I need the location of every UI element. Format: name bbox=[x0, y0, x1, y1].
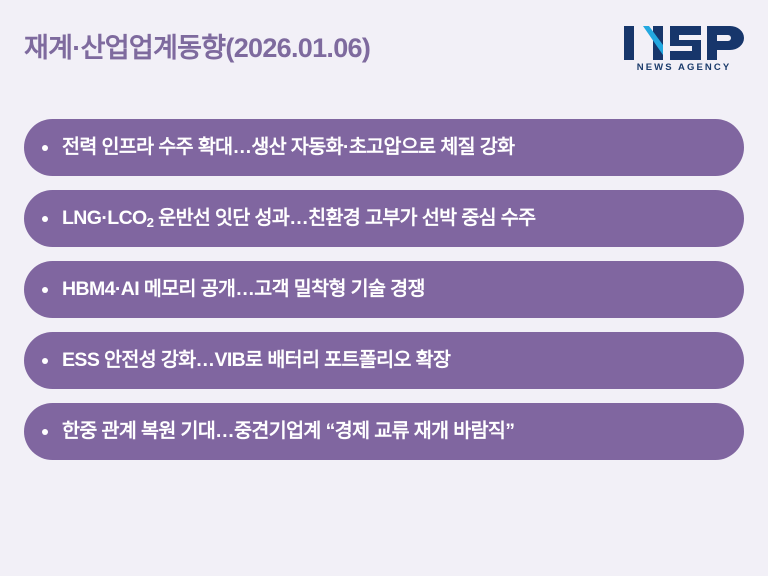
headline-item[interactable]: HBM4·AI 메모리 공개…고객 밀착형 기술 경쟁 bbox=[24, 261, 744, 318]
dot-bullet-icon bbox=[42, 429, 48, 435]
headline-item[interactable]: LNG·LCO2 운반선 잇단 성과…친환경 고부가 선박 중심 수주 bbox=[24, 190, 744, 247]
slide-header: 재계·산업업계동향(2026.01.06) NEWS AGENCY bbox=[0, 0, 768, 108]
news-summary-slide: 재계·산업업계동향(2026.01.06) NEWS AGENCY 전력 인프라… bbox=[0, 0, 768, 576]
headline-item[interactable]: ESS 안전성 강화…VIB로 배터리 포트폴리오 확장 bbox=[24, 332, 744, 389]
dot-bullet-icon bbox=[42, 358, 48, 364]
headline-text: ESS 안전성 강화…VIB로 배터리 포트폴리오 확장 bbox=[62, 348, 718, 372]
headline-text: HBM4·AI 메모리 공개…고객 밀착형 기술 경쟁 bbox=[62, 277, 718, 301]
nsp-logo: NEWS AGENCY bbox=[622, 24, 746, 78]
page-title: 재계·산업업계동향(2026.01.06) bbox=[24, 32, 370, 64]
headline-text-suffix: 운반선 잇단 성과…친환경 고부가 선박 중심 수주 bbox=[153, 207, 535, 229]
headline-text: LNG·LCO2 운반선 잇단 성과…친환경 고부가 선박 중심 수주 bbox=[62, 206, 718, 230]
headline-list: 전력 인프라 수주 확대…생산 자동화·초고압으로 체질 강화 LNG·LCO2… bbox=[24, 119, 744, 460]
headline-text: 전력 인프라 수주 확대…생산 자동화·초고압으로 체질 강화 bbox=[62, 135, 718, 159]
dot-bullet-icon bbox=[42, 287, 48, 293]
dot-bullet-icon bbox=[42, 216, 48, 222]
headline-item[interactable]: 한중 관계 복원 기대…중견기업계 “경제 교류 재개 바람직” bbox=[24, 403, 744, 460]
nsp-logomark-icon bbox=[622, 24, 746, 62]
dot-bullet-icon bbox=[42, 145, 48, 151]
logo-tagline: NEWS AGENCY bbox=[622, 63, 746, 73]
headline-text-prefix: LNG·LCO bbox=[62, 207, 147, 229]
headline-item[interactable]: 전력 인프라 수주 확대…생산 자동화·초고압으로 체질 강화 bbox=[24, 119, 744, 176]
headline-text: 한중 관계 복원 기대…중견기업계 “경제 교류 재개 바람직” bbox=[62, 419, 718, 443]
headline-text-subscript: 2 bbox=[147, 215, 154, 230]
